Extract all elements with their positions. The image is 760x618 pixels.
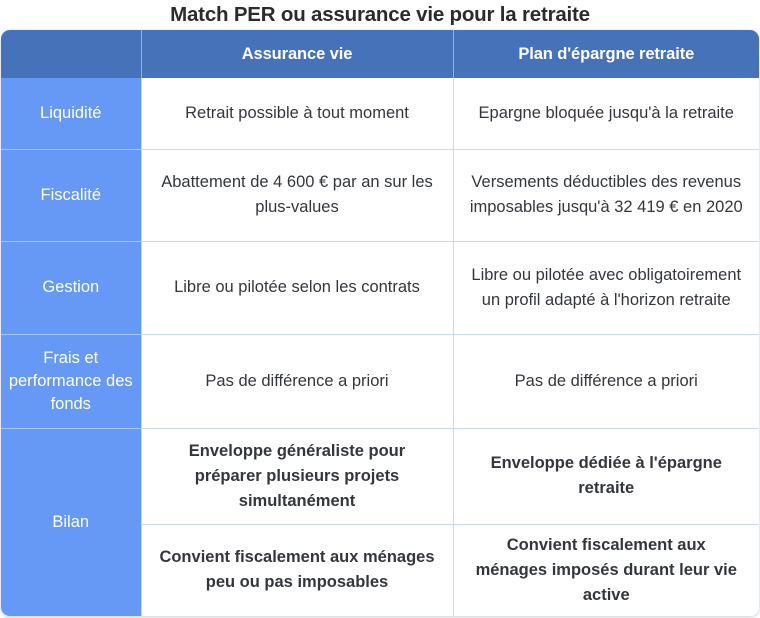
table-row: Bilan Enveloppe généraliste pour prépare… <box>1 428 759 524</box>
cell-bilan-per-2: Convient fiscalement aux ménages imposés… <box>453 524 759 616</box>
table-row: Gestion Libre ou pilotée selon les contr… <box>1 241 759 334</box>
cell-liquidite-per: Epargne bloquée jusqu'à la retraite <box>453 78 759 149</box>
row-label-fiscalite: Fiscalité <box>1 149 141 241</box>
comparison-table: Assurance vie Plan d'épargne retraite Li… <box>1 30 759 616</box>
cell-frais-per: Pas de différence a priori <box>453 334 759 428</box>
table-row: Frais et performance des fonds Pas de di… <box>1 334 759 428</box>
cell-bilan-per-1: Enveloppe dédiée à l'épargne retraite <box>453 428 759 524</box>
comparison-table-page: Match PER ou assurance vie pour la retra… <box>0 0 760 618</box>
table-header-row: Assurance vie Plan d'épargne retraite <box>1 30 759 78</box>
header-cell-corner <box>1 30 141 78</box>
header-cell-plan-epargne-retraite: Plan d'épargne retraite <box>453 30 759 78</box>
table-body: Liquidité Retrait possible à tout moment… <box>1 78 759 616</box>
cell-liquidite-assurance-vie: Retrait possible à tout moment <box>141 78 453 149</box>
row-label-gestion: Gestion <box>1 241 141 334</box>
row-label-liquidite: Liquidité <box>1 78 141 149</box>
page-title: Match PER ou assurance vie pour la retra… <box>0 0 760 29</box>
row-label-bilan: Bilan <box>1 428 141 616</box>
table-row: Fiscalité Abattement de 4 600 € par an s… <box>1 149 759 241</box>
cell-gestion-per: Libre ou pilotée avec obligatoirement un… <box>453 241 759 334</box>
cell-frais-assurance-vie: Pas de différence a priori <box>141 334 453 428</box>
cell-bilan-assurance-vie-1: Enveloppe généraliste pour préparer plus… <box>141 428 453 524</box>
cell-bilan-assurance-vie-2: Convient fiscalement aux ménages peu ou … <box>141 524 453 616</box>
cell-gestion-assurance-vie: Libre ou pilotée selon les contrats <box>141 241 453 334</box>
table-row: Liquidité Retrait possible à tout moment… <box>1 78 759 149</box>
cell-fiscalite-per: Versements déductibles des revenus impos… <box>453 149 759 241</box>
comparison-table-container: Assurance vie Plan d'épargne retraite Li… <box>1 30 759 616</box>
table-header: Assurance vie Plan d'épargne retraite <box>1 30 759 78</box>
header-cell-assurance-vie: Assurance vie <box>141 30 453 78</box>
cell-fiscalite-assurance-vie: Abattement de 4 600 € par an sur les plu… <box>141 149 453 241</box>
row-label-frais-performance: Frais et performance des fonds <box>1 334 141 428</box>
